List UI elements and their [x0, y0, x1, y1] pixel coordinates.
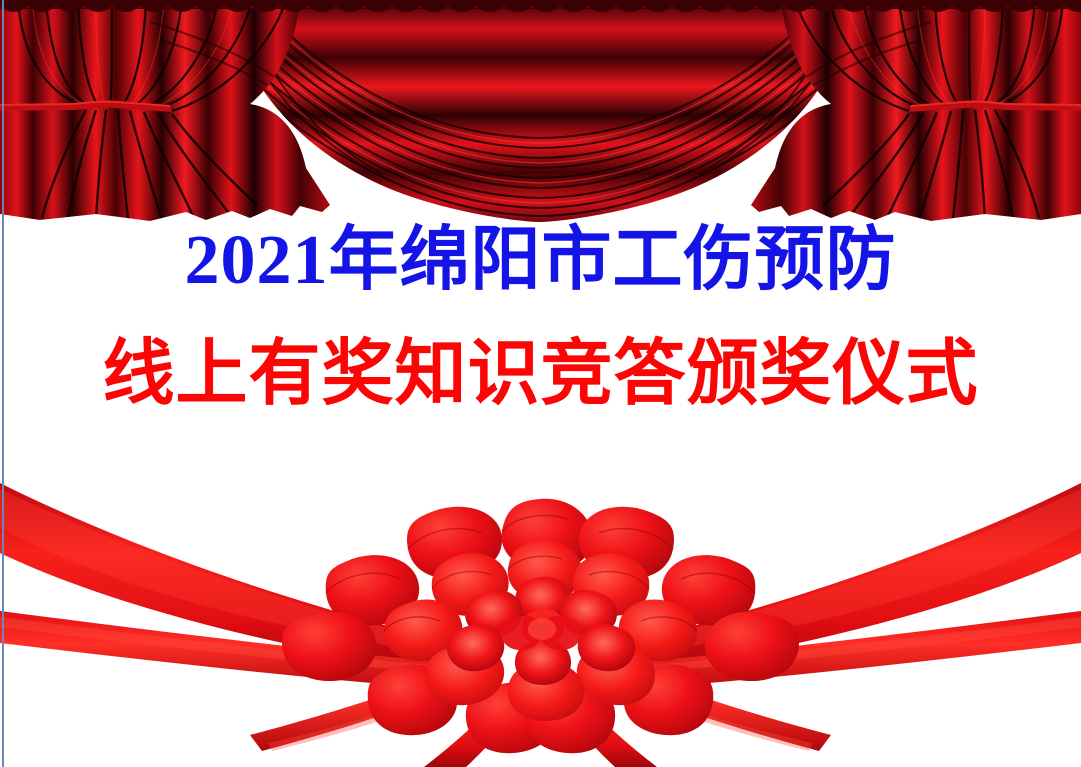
ribbon-tail-left	[250, 667, 472, 751]
title-line-1-rest: 年绵阳市工伤预防	[329, 222, 897, 299]
ribbon-rosette-decoration	[0, 467, 1081, 767]
title-line-2: 线上有奖知识竞答颁奖仪式	[0, 338, 1081, 410]
ribbon-streamer-lower-right	[581, 611, 1081, 693]
rosette-outer-petals	[282, 499, 799, 753]
curtain-panel-right	[751, 0, 1081, 240]
rosette-inner-petals	[447, 577, 635, 685]
ribbon-tail-center-left	[424, 697, 522, 767]
curtain-tieback-right	[909, 101, 1081, 112]
ribbon-tail-center-right	[559, 697, 657, 767]
title-year: 2021	[185, 222, 329, 299]
stage-curtain	[0, 0, 1081, 240]
curtain-valance	[200, 0, 881, 240]
page-border-rule	[2, 0, 4, 767]
curtain-tieback	[0, 101, 172, 112]
curtain-panel-left	[0, 0, 330, 240]
ceremony-poster: 2021年绵阳市工伤预防 线上有奖知识竞答颁奖仪式	[0, 0, 1081, 767]
rosette-core	[500, 609, 582, 650]
curtain-top-rail	[0, 0, 1081, 12]
ribbon-streamer-upper-left	[0, 483, 500, 681]
ribbon-streamer-lower-left	[0, 611, 500, 693]
poster-title-block: 2021年绵阳市工伤预防 线上有奖知识竞答颁奖仪式	[0, 226, 1081, 410]
rosette-mid-petals	[384, 541, 697, 721]
title-line-1: 2021年绵阳市工伤预防	[0, 226, 1081, 296]
ribbon-streamer-upper-right	[581, 483, 1081, 681]
ribbon-tail-right	[609, 667, 831, 751]
